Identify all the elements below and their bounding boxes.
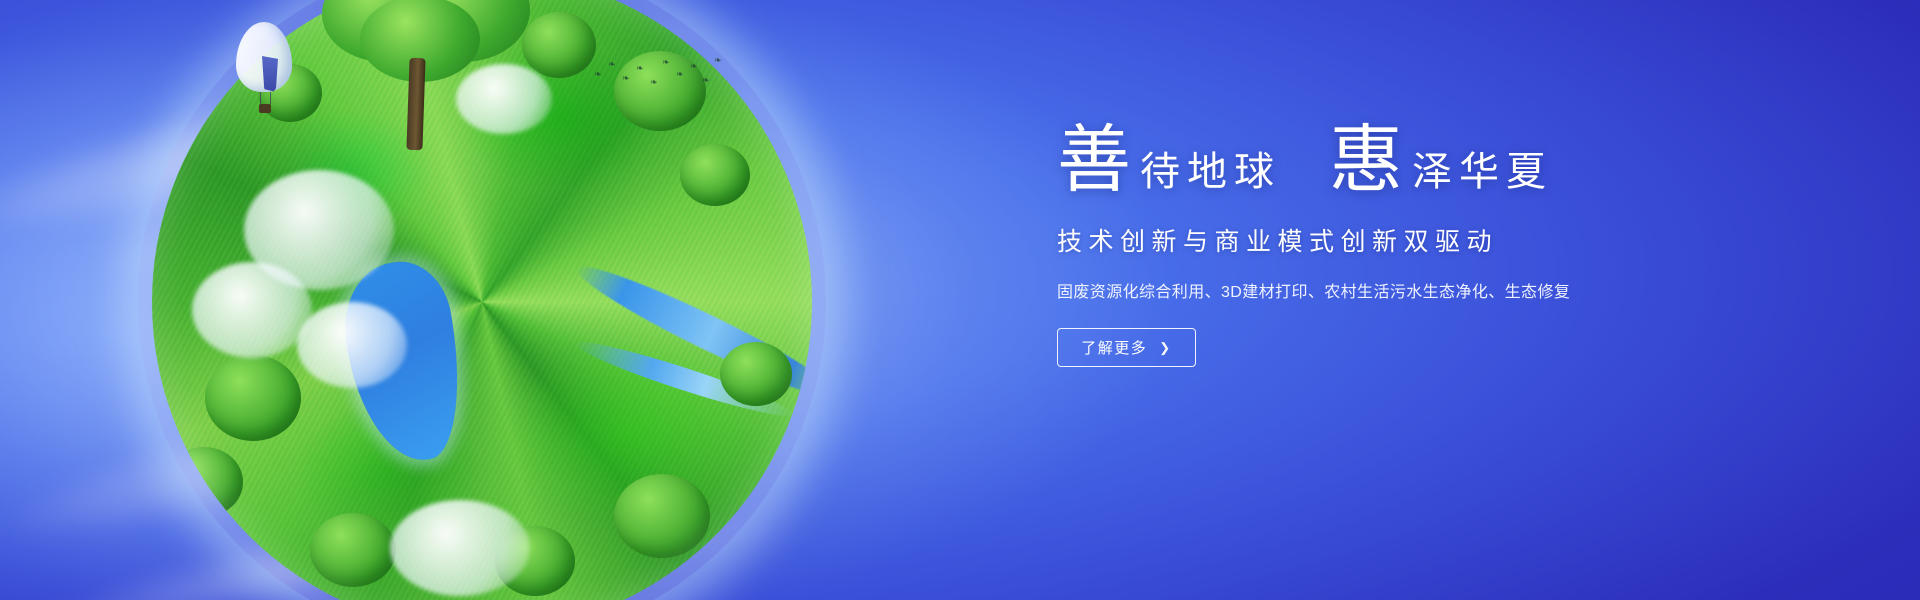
bird-icon: ❧ — [714, 56, 722, 65]
balloon-rope — [260, 92, 261, 104]
learn-more-label: 了解更多 — [1081, 337, 1147, 358]
headline-text-2: 泽华夏 — [1404, 152, 1553, 196]
cloud-puff — [390, 500, 530, 596]
balloon-basket — [259, 104, 271, 113]
banner-copy: 善 待地球 惠 泽华夏 技术创新与商业模式创新双驱动 固废资源化综合利用、3D建… — [1057, 126, 1757, 367]
banner-subtitle: 技术创新与商业模式创新双驱动 — [1057, 222, 1757, 258]
banner-description: 固废资源化综合利用、3D建材打印、农村生活污水生态净化、生态修复 — [1057, 278, 1757, 302]
headline-text-1: 待地球 — [1132, 152, 1281, 196]
tree-trunk — [406, 58, 425, 151]
tree-cluster — [205, 355, 301, 441]
tree-cluster — [614, 474, 710, 558]
cloud-puff — [297, 302, 407, 388]
bird-icon: ❧ — [662, 58, 670, 67]
bird-flock: ❧ ❧ ❧ ❧ ❧ ❧ ❧ ❧ ❧ ❧ — [592, 52, 722, 92]
bird-icon: ❧ — [622, 74, 630, 83]
balloon-rope — [270, 92, 271, 104]
hot-air-balloon — [236, 22, 292, 118]
bird-icon: ❧ — [650, 78, 658, 87]
tree-cluster — [720, 342, 792, 406]
tree-cluster — [310, 513, 396, 587]
bird-icon: ❧ — [636, 64, 644, 73]
foreground-tree — [300, 0, 536, 142]
bird-icon: ❧ — [676, 70, 684, 79]
balloon-stripe — [262, 56, 278, 92]
headline-char-primary-2: 惠 — [1329, 126, 1404, 196]
bird-icon: ❧ — [702, 76, 710, 85]
bird-icon: ❧ — [690, 62, 698, 71]
headline-char-primary-1: 善 — [1057, 126, 1132, 196]
cloud-puff — [192, 262, 312, 358]
tree-cluster — [165, 447, 243, 517]
bird-icon: ❧ — [608, 60, 616, 69]
learn-more-button[interactable]: 了解更多 ❯ — [1057, 328, 1196, 367]
page-title: 善 待地球 惠 泽华夏 — [1057, 126, 1757, 196]
tree-cluster — [680, 144, 750, 206]
bird-icon: ❧ — [594, 70, 602, 79]
chevron-right-icon: ❯ — [1159, 340, 1171, 356]
hero-banner: ❧ ❧ ❧ ❧ ❧ ❧ ❧ ❧ ❧ ❧ 善 待地球 惠 泽华夏 技术创新与商业模… — [0, 0, 1920, 600]
